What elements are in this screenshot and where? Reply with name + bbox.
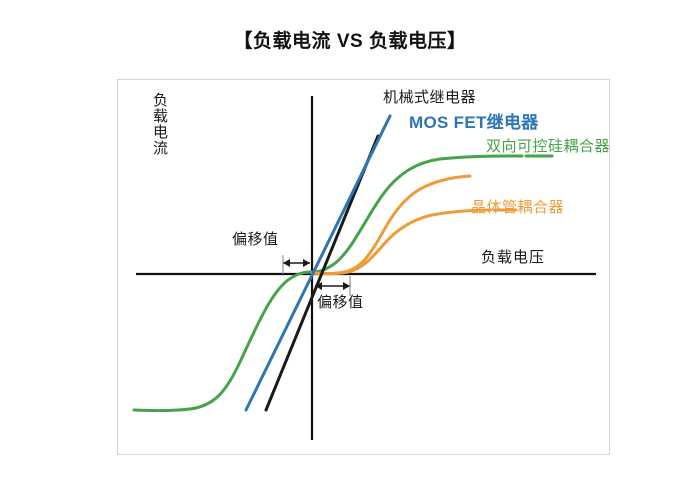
legend-label-mechanical-relay: 机械式继电器	[383, 86, 476, 107]
legend-label-transistor-coupler: 晶体管耦合器	[471, 196, 564, 217]
x-axis-label: 负载电压	[481, 246, 545, 267]
series-line-triac-coupler	[134, 156, 522, 411]
series-line-mosfet-relay	[246, 116, 390, 410]
screenshot-root: 【负载电流 VS 负载电压】	[0, 0, 700, 482]
page-title: 【负载电流 VS 负载电压】	[0, 26, 700, 53]
annotation-label-offset-left: 偏移值	[232, 228, 279, 249]
legend-label-triac-coupler: 双向可控硅耦合器	[486, 135, 610, 156]
y-axis-label: 负载电流	[152, 92, 167, 156]
legend-label-mosfet-relay: MOS FET继电器	[409, 108, 539, 133]
annotation-label-offset-right: 偏移值	[317, 291, 364, 312]
